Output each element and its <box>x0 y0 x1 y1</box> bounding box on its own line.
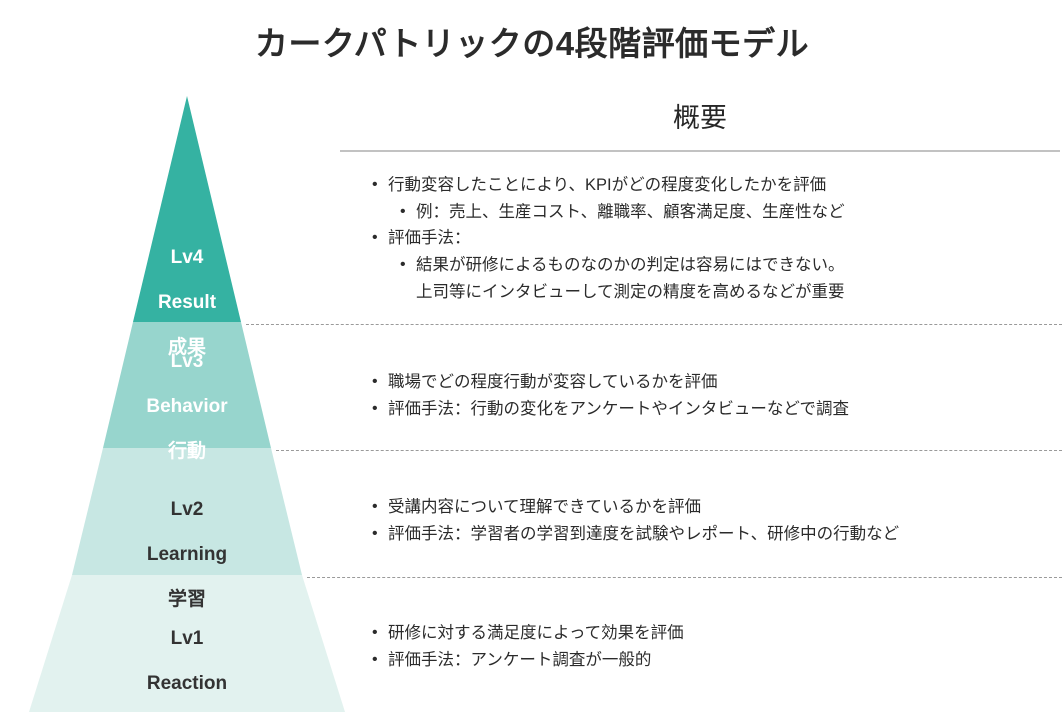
list-item: • 例：売上、生産コスト、離職率、顧客満足度、生産性など <box>372 199 1062 226</box>
kirkpatrick-pyramid <box>0 0 380 717</box>
list-item: • 結果が研修によるものなのかの判定は容易にはできない。 上司等にインタビューし… <box>372 252 1062 305</box>
list-item-text: 受講内容について理解できているかを評価 <box>388 494 1062 521</box>
description-lv2: • 受講内容について理解できているかを評価 • 評価手法：学習者の学習到達度を試… <box>372 494 1062 547</box>
pyramid-tier-lv2 <box>72 448 302 575</box>
bullet-icon: • <box>372 369 388 395</box>
overview-header-rule <box>340 150 1060 152</box>
pyramid-tier-lv1 <box>29 575 345 712</box>
list-item-text: 評価手法：アンケート調査が一般的 <box>388 647 1062 674</box>
bullet-icon: • <box>372 396 388 422</box>
list-item-text: 研修に対する満足度によって効果を評価 <box>388 620 1062 647</box>
pyramid-tier-lv3 <box>103 322 271 448</box>
row-divider-lv2-lv1 <box>307 577 1062 578</box>
bullet-icon: • <box>372 172 388 198</box>
overview-header: 概要 <box>340 96 1060 135</box>
list-item: • 研修に対する満足度によって効果を評価 <box>372 620 1062 647</box>
list-item: • 受講内容について理解できているかを評価 <box>372 494 1062 521</box>
list-item: • 評価手法： <box>372 225 1062 252</box>
pyramid-tier-lv4 <box>133 96 241 322</box>
description-lv1: • 研修に対する満足度によって効果を評価 • 評価手法：アンケート調査が一般的 <box>372 620 1062 673</box>
bullet-icon: • <box>372 494 388 520</box>
list-item-text: 行動変容したことにより、KPIがどの程度変化したかを評価 <box>388 172 1062 199</box>
list-item-text: 評価手法：学習者の学習到達度を試験やレポート、研修中の行動など <box>388 521 1062 548</box>
list-item-text: 例：売上、生産コスト、離職率、顧客満足度、生産性など <box>416 199 1062 226</box>
bullet-icon: • <box>372 521 388 547</box>
list-item-text: 結果が研修によるものなのかの判定は容易にはできない。 上司等にインタビューして測… <box>416 252 1062 305</box>
diagram-canvas: カークパトリックの4段階評価モデル Lv4 Result 成果 Lv3 Beha… <box>0 0 1064 717</box>
description-lv4: • 行動変容したことにより、KPIがどの程度変化したかを評価 • 例：売上、生産… <box>372 172 1062 306</box>
row-divider-lv4-lv3 <box>246 324 1062 325</box>
list-item-text: 評価手法：行動の変化をアンケートやインタビューなどで調査 <box>388 396 1062 423</box>
list-item-text: 評価手法： <box>388 225 1062 252</box>
bullet-icon: • <box>372 620 388 646</box>
list-item-text: 職場でどの程度行動が変容しているかを評価 <box>388 369 1062 396</box>
list-item: • 行動変容したことにより、KPIがどの程度変化したかを評価 <box>372 172 1062 199</box>
bullet-icon: • <box>400 199 416 225</box>
list-item: • 評価手法：学習者の学習到達度を試験やレポート、研修中の行動など <box>372 521 1062 548</box>
description-lv3: • 職場でどの程度行動が変容しているかを評価 • 評価手法：行動の変化をアンケー… <box>372 369 1062 422</box>
list-item: • 評価手法：アンケート調査が一般的 <box>372 647 1062 674</box>
bullet-icon: • <box>400 252 416 278</box>
list-item: • 職場でどの程度行動が変容しているかを評価 <box>372 369 1062 396</box>
bullet-icon: • <box>372 647 388 673</box>
row-divider-lv3-lv2 <box>276 450 1062 451</box>
list-item: • 評価手法：行動の変化をアンケートやインタビューなどで調査 <box>372 396 1062 423</box>
bullet-icon: • <box>372 225 388 251</box>
